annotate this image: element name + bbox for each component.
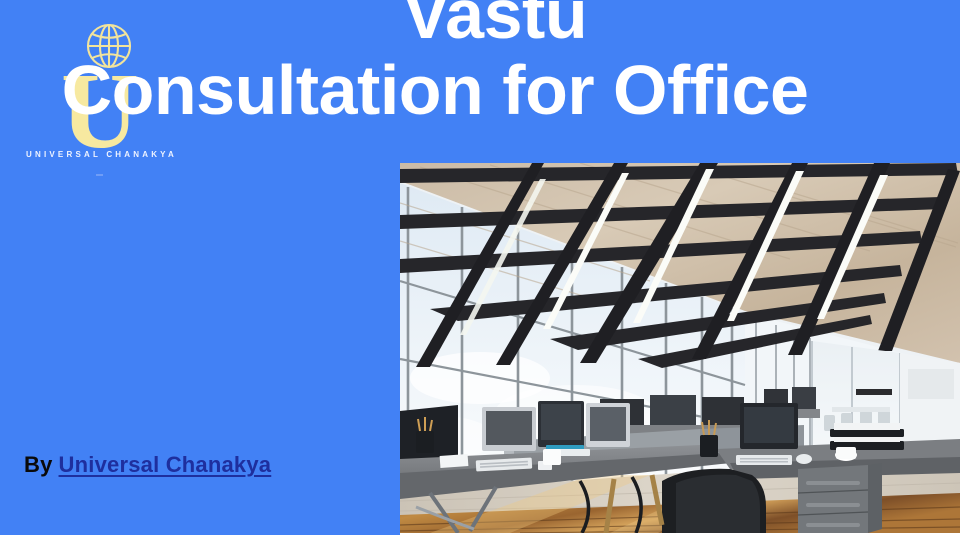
byline: ByUniversal Chanakya — [24, 452, 271, 478]
title-clip-region: Vastu Consultation for Office — [0, 0, 960, 150]
page-title: Vastu Consultation for Office — [30, 0, 960, 128]
page-title-line-1: Vastu — [30, 0, 960, 52]
byline-prefix: By — [24, 452, 53, 477]
byline-author-link[interactable]: Universal Chanakya — [59, 452, 272, 477]
photo-bottom-strip — [400, 533, 960, 540]
presentation-slide: U UNIVERSAL CHANAKYA Vastu Consultation … — [0, 0, 960, 540]
page-title-line-2: Consultation for Office — [0, 52, 960, 128]
logo-underline-mark — [96, 174, 103, 176]
office-interior-image — [400, 163, 960, 533]
logo-wordmark: UNIVERSAL CHANAKYA — [20, 150, 180, 159]
